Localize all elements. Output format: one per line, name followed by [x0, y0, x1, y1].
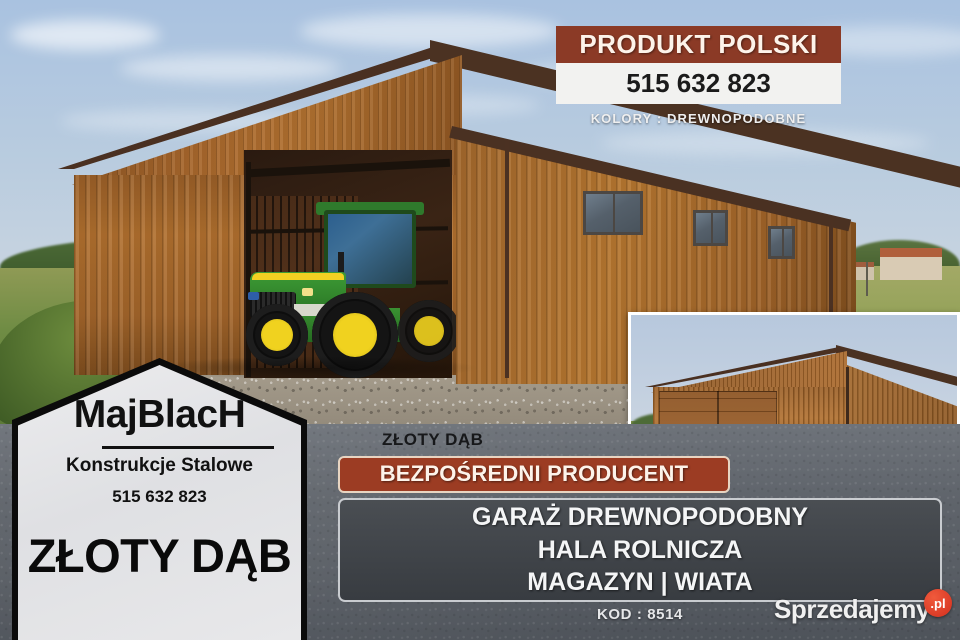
direct-producer-badge: BEZPOŚREDNI PRODUCENT: [338, 456, 730, 493]
inset-product-photo: [628, 312, 960, 424]
cloud: [120, 55, 340, 81]
tractor-wheel: [398, 300, 460, 362]
promo-phone-number: 515 632 823: [556, 63, 841, 104]
watermark-tld-badge: .pl: [924, 589, 952, 617]
promo-block: PRODUKT POLSKI 515 632 823 KOLORY : DREW…: [556, 26, 841, 126]
tractor-light: [302, 288, 313, 296]
barn-window: [768, 226, 795, 259]
product-type-line: MAGAZYN | WIATA: [527, 567, 752, 598]
utility-pole: [866, 262, 868, 296]
product-types-box: GARAŻ DREWNOPODOBNY HALA ROLNICZA MAGAZY…: [338, 498, 942, 602]
sprzedajemy-watermark: Sprzedajemy .pl: [774, 592, 952, 626]
inset-downpipe: [846, 367, 849, 424]
logo-tagline: Konstrukcje Stalowe: [18, 455, 301, 477]
advertisement-banner: PRODUKT POLSKI 515 632 823 KOLORY : DREW…: [0, 0, 960, 640]
barn-window: [583, 191, 643, 235]
barn-window: [693, 210, 728, 246]
product-kicker: ZŁOTY DĄB: [382, 430, 483, 450]
promo-colors-subtitle: KOLORY : DREWNOPODOBNE: [556, 111, 841, 126]
main-product-photo: PRODUKT POLSKI 515 632 823 KOLORY : DREW…: [0, 0, 960, 424]
product-type-line: GARAŻ DREWNOPODOBNY: [472, 502, 808, 533]
watermark-name: Sprzedajemy: [774, 594, 930, 625]
tractor-hood-stripe: [252, 273, 344, 280]
tractor-light: [248, 292, 259, 300]
logo-divider: [102, 446, 274, 449]
logo-plate: MajBlacH Konstrukcje Stalowe 515 632 823…: [18, 365, 301, 640]
inset-door-split: [717, 391, 719, 424]
farmhouse: [880, 248, 942, 280]
cloud: [10, 20, 160, 50]
produkt-polski-banner: PRODUKT POLSKI: [556, 26, 841, 63]
logo-phone-number: 515 632 823: [18, 487, 301, 507]
logo-product-name: ZŁOTY DĄB: [18, 528, 301, 583]
downpipe: [505, 140, 509, 378]
product-type-line: HALA ROLNICZA: [538, 535, 743, 566]
tractor: [238, 200, 453, 375]
